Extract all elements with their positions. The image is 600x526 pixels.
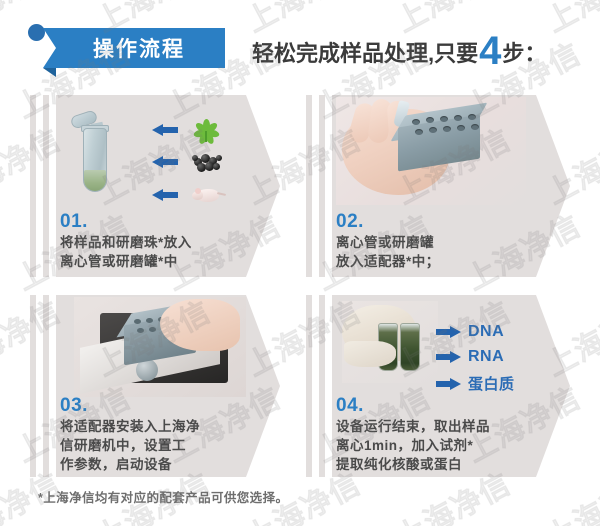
headline-pre: 轻松完成样品处理,只要 (252, 36, 478, 68)
step-card-1-content: 01. 将样品和研磨珠*放入 离心管或研磨罐*中 (56, 95, 280, 277)
card-2-stripe-b (319, 95, 325, 277)
footer-note: *上海净信均有对应的配套产品可供您选择。 (38, 487, 288, 506)
output-label-protein: 蛋白质 (468, 373, 515, 394)
page-root: 操作流程 轻松完成样品处理,只要 4 步： (0, 0, 600, 526)
output-row-protein: 蛋白质 (436, 373, 515, 394)
step-4-number: 04. (336, 395, 364, 417)
centrifuge-tube-icon (75, 112, 111, 194)
card-2-stripe-a (306, 95, 312, 277)
step-2-text: 离心管或研磨罐 放入适配器*中； (336, 233, 551, 271)
card-4-stripe-a (306, 295, 312, 477)
gloved-hand-tubes-photo (342, 301, 438, 383)
arrow-right-icon (436, 351, 461, 363)
input-row-beads (152, 151, 222, 173)
output-label-rna: RNA (468, 348, 504, 366)
section-ribbon: 操作流程 (43, 28, 225, 68)
headline-post: 步： (502, 36, 546, 68)
card-1-stripe-b (43, 95, 49, 277)
output-row-rna: RNA (436, 348, 504, 366)
step-3-number: 03. (60, 395, 88, 417)
step-card-2-content: 02. 离心管或研磨罐 放入适配器*中； (332, 95, 570, 277)
headline: 轻松完成样品处理,只要 4 步： (252, 30, 546, 72)
step-card-4-content: DNA RNA 蛋白质 04. 设备运行结束，取出样品 离心1min，加入试剂*… (332, 295, 570, 477)
beads-icon (192, 151, 222, 173)
step-1-number: 01. (60, 211, 88, 233)
ribbon-tail-shape (43, 68, 56, 77)
header: 操作流程 轻松完成样品处理,只要 4 步： (0, 0, 600, 90)
arrow-right-icon (436, 326, 461, 338)
ribbon-dot-icon (28, 24, 45, 41)
hand-loading-adapter-photo (336, 97, 526, 205)
step-card-3-content: 03. 将适配器安装入上海净 信研磨机中，设置工 作参数，启动设备 (56, 295, 280, 477)
output-label-dna: DNA (468, 323, 504, 341)
card-3-stripe-b (43, 295, 49, 477)
card-1-stripe-a (30, 95, 36, 277)
card-4-stripe-b (319, 295, 325, 477)
step-3-text: 将适配器安装入上海净 信研磨机中，设置工 作参数，启动设备 (60, 417, 266, 474)
step-1-text: 将样品和研磨珠*放入 离心管或研磨罐*中 (60, 233, 270, 271)
output-row-dna: DNA (436, 323, 504, 341)
arrow-left-icon (152, 156, 178, 169)
leaf-icon (192, 117, 220, 143)
mouse-icon (192, 185, 224, 205)
input-row-mouse (152, 185, 224, 205)
ribbon-label: 操作流程 (43, 28, 225, 68)
grinder-machine-photo (74, 297, 246, 397)
arrow-left-icon (152, 189, 178, 202)
headline-step-count: 4 (479, 33, 501, 69)
step-4-text: 设备运行结束，取出样品 离心1min，加入试剂* 提取纯化核酸或蛋白 (336, 417, 560, 474)
arrow-left-icon (152, 124, 178, 137)
step-2-number: 02. (336, 211, 364, 233)
card-3-stripe-a (30, 295, 36, 477)
input-row-plant (152, 117, 220, 143)
arrow-right-icon (436, 378, 461, 390)
